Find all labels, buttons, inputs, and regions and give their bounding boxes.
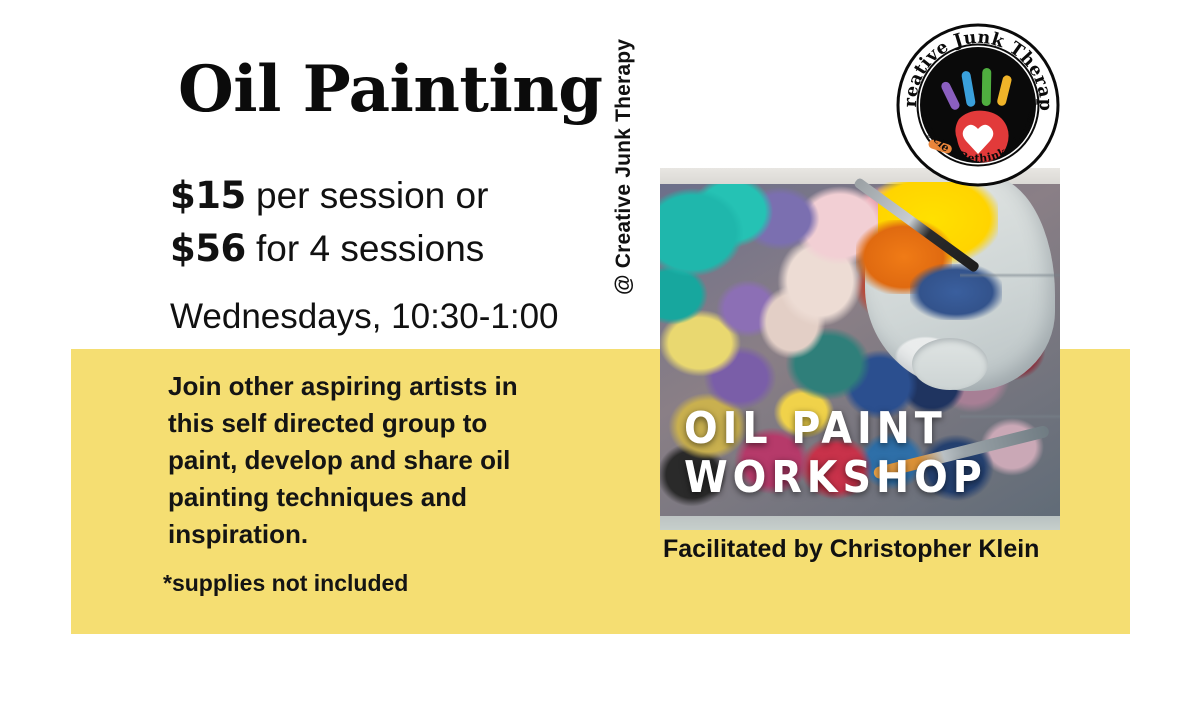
- flyer-canvas: Oil Painting $15 per session or $56 for …: [0, 0, 1200, 706]
- page-title: Oil Painting: [178, 56, 603, 123]
- description-line: painting techniques and: [168, 479, 588, 516]
- price-row: $15 per session or: [170, 170, 488, 223]
- description-line: Join other aspiring artists in: [168, 368, 588, 405]
- description-paragraph: Join other aspiring artists in this self…: [168, 368, 588, 553]
- description-line: paint, develop and share oil: [168, 442, 588, 479]
- facilitator-credit: Facilitated by Christopher Klein: [663, 535, 1039, 564]
- schedule-text: Wednesdays, 10:30-1:00: [170, 297, 559, 337]
- photo-caption-line: WORKSHOP: [684, 453, 1036, 502]
- photo-caption-line: OIL PAINT: [684, 404, 1036, 453]
- supplies-note: *supplies not included: [163, 570, 408, 597]
- social-handle: @ Creative Junk Therapy: [612, 15, 646, 295]
- price-amount: $56: [170, 227, 246, 270]
- price-description: per session or: [246, 175, 489, 216]
- description-line: this self directed group to: [168, 405, 588, 442]
- brand-logo: Creative Junk Therapy Recycle - Rethink …: [896, 23, 1060, 187]
- description-line: inspiration.: [168, 516, 588, 553]
- price-amount: $15: [170, 174, 246, 217]
- photo-bottom-edge: [660, 516, 1060, 530]
- price-description: for 4 sessions: [246, 228, 485, 269]
- workshop-photo: OIL PAINT WORKSHOP: [660, 168, 1060, 530]
- logo-finger-green: [982, 68, 992, 106]
- photo-caption: OIL PAINT WORKSHOP: [684, 404, 1036, 503]
- price-row: $56 for 4 sessions: [170, 223, 488, 276]
- pricing-block: $15 per session or $56 for 4 sessions: [170, 170, 488, 275]
